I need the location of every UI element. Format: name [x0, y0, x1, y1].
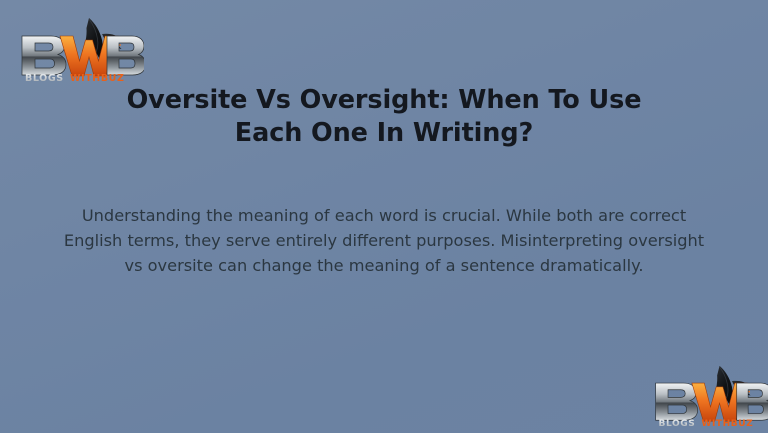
intro-paragraph: Understanding the meaning of each word i…: [58, 203, 710, 278]
logo-letter-b-right: [107, 36, 144, 75]
tagline-accent-text: WITHBUZ: [701, 419, 753, 427]
logo-letter-b-right: [737, 383, 768, 420]
tagline-primary-text: BLOGS: [658, 419, 695, 427]
tagline-accent-text: WITHBUZ: [70, 73, 125, 82]
page-title: Oversite Vs Oversight: When To Use Each …: [112, 84, 656, 150]
brand-logo-bottom: BLOGS WITHBUZ: [648, 362, 768, 427]
brand-tagline: BLOGS WITHBUZ: [25, 73, 125, 82]
logo-letter-b-left: [22, 36, 66, 75]
featured-image-canvas: BLOGS WITHBUZ Oversite Vs Oversight: Whe…: [0, 0, 768, 433]
brand-logo-top-art: BLOGS WITHBUZ: [14, 14, 144, 82]
brand-logo-top: BLOGS WITHBUZ: [14, 14, 144, 82]
tagline-primary-text: BLOGS: [25, 73, 64, 82]
brand-logo-bottom-art: BLOGS WITHBUZ: [648, 362, 768, 427]
brand-tagline: BLOGS WITHBUZ: [658, 419, 753, 427]
logo-letter-b-left: [656, 383, 698, 420]
